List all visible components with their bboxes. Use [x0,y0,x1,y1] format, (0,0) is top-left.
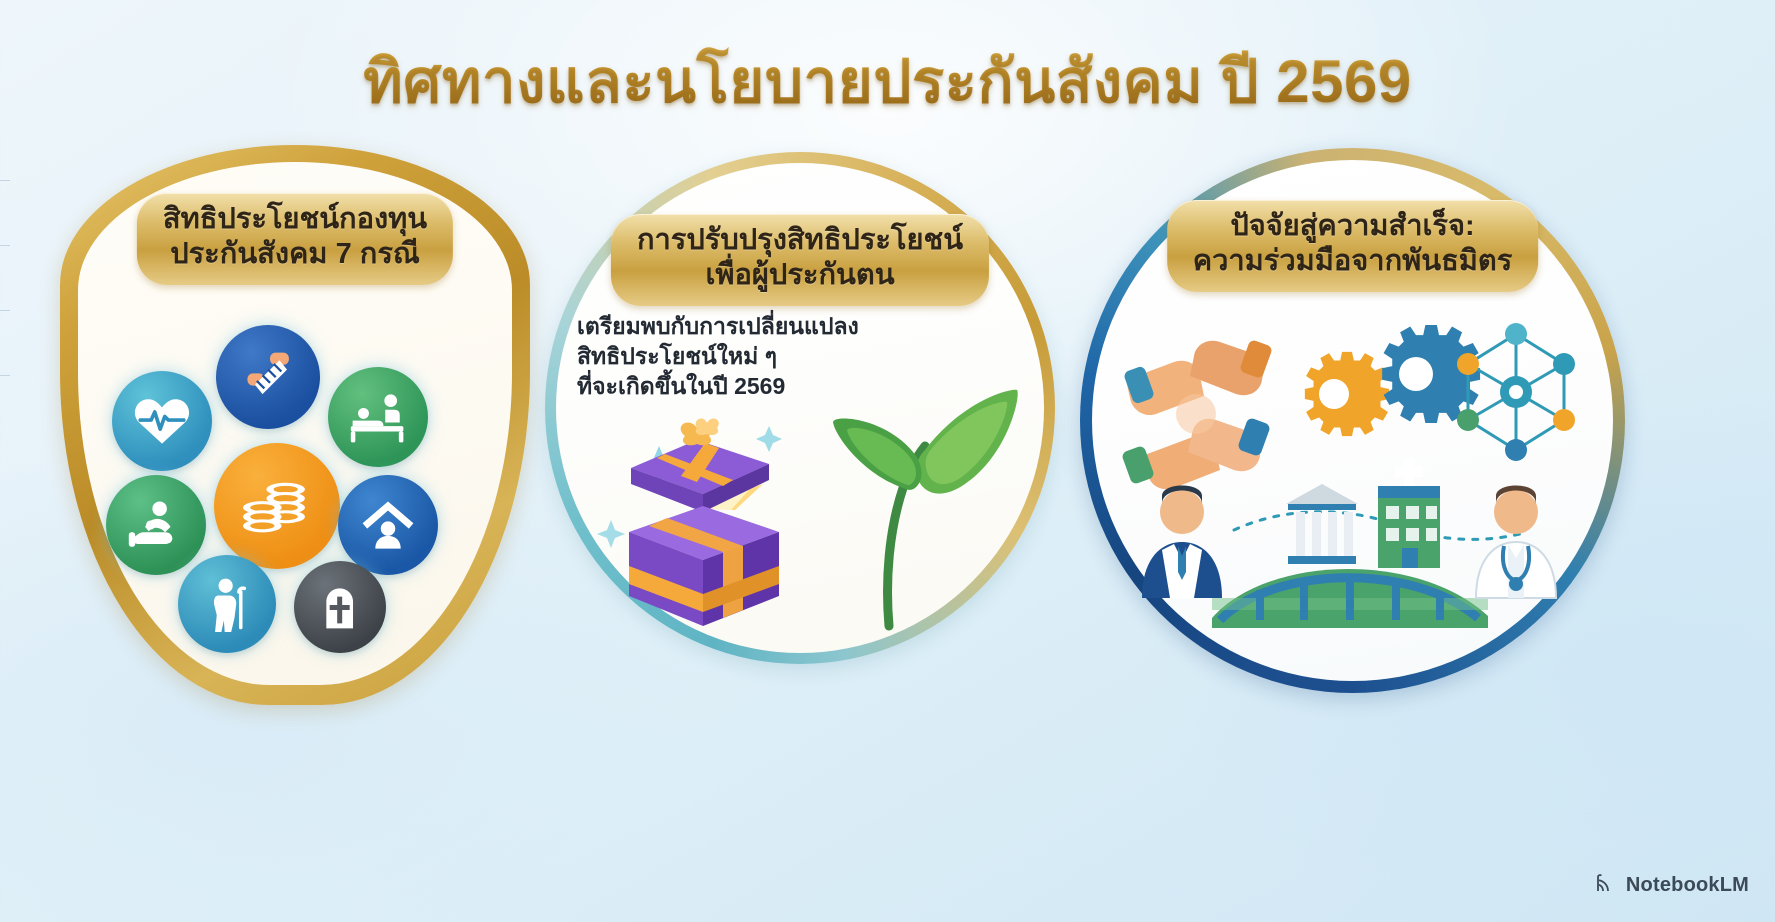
page-title: ทิศทางและนโยบายประกันสังคม ปี 2569 [363,34,1412,129]
watermark-label: NotebookLM [1626,874,1749,897]
sprout-leaf-icon [833,390,1018,626]
panels-row: สิทธิประโยชน์กองทุน ประกันสังคม 7 กรณี [0,140,1775,780]
gravestone-icon [294,561,386,653]
businessman-icon [1142,486,1222,599]
coins-money-icon [214,443,340,569]
panel-benefits-heading: สิทธิประโยชน์กองทุน ประกันสังคม 7 กรณี [137,193,453,285]
maternity-baby-icon [106,475,206,575]
heading-line-1: สิทธิประโยชน์กองทุน [163,202,427,237]
partnership-illustration [1116,298,1586,658]
body-line-2: สิทธิประโยชน์ใหม่ ๆ [577,342,859,372]
panel-improvement-heading: การปรับปรุงสิทธิประโยชน์ เพื่อผู้ประกันต… [611,214,989,306]
heading-line-2: ความร่วมมือจากพันธมิตร [1193,244,1513,279]
doctor-icon [1476,486,1556,599]
gift-box-base-icon [629,506,779,626]
heart-pulse-icon [112,371,212,471]
heading-line-2: ประกันสังคม 7 กรณี [163,237,427,272]
benefit-icon-cluster [106,323,486,653]
cast-injury-icon [216,325,320,429]
heading-line-2: เพื่อผู้ประกันตน [637,258,963,293]
heading-line-1: ปัจจัยสู่ความสำเร็จ: [1193,209,1513,244]
home-shelter-icon [338,475,438,575]
gift-plant-illustration [573,380,1025,640]
gears-cooperation-icon [1305,325,1480,436]
elderly-person-icon [178,555,276,653]
notebooklm-icon [1594,871,1618,900]
hospital-bed-icon [328,367,428,467]
dotted-connector [1234,512,1520,540]
body-line-1: เตรียมพบกับการเปลี่ยนแปลง [577,312,859,342]
network-nodes-icon [1457,323,1575,461]
panel-benefits[interactable]: สิทธิประโยชน์กองทุน ประกันสังคม 7 กรณี [60,145,530,705]
edge-decoration [0,180,10,440]
panel-improvement-body: เตรียมพบกับการเปลี่ยนแปลง สิทธิประโยชน์ใ… [577,312,859,402]
panel-improvement[interactable]: การปรับปรุงสิทธิประโยชน์ เพื่อผู้ประกันต… [545,152,1055,664]
bridge-icon [1212,569,1488,628]
body-line-3: ที่จะเกิดขึ้นในปี 2569 [577,372,859,402]
hospital-building-icon [1378,458,1440,568]
panel-partnership-heading: ปัจจัยสู่ความสำเร็จ: ความร่วมมือจากพันธม… [1167,200,1539,292]
government-building-icon [1286,484,1358,564]
handshake-teamwork-icon [1121,339,1273,489]
page-title-container: ทิศทางและนโยบายประกันสังคม ปี 2569 [0,34,1775,129]
panel-partnership[interactable]: ปัจจัยสู่ความสำเร็จ: ความร่วมมือจากพันธม… [1080,148,1625,693]
heading-line-1: การปรับปรุงสิทธิประโยชน์ [637,223,963,258]
gift-box-icon [631,419,769,512]
notebooklm-watermark: NotebookLM [1594,871,1749,900]
